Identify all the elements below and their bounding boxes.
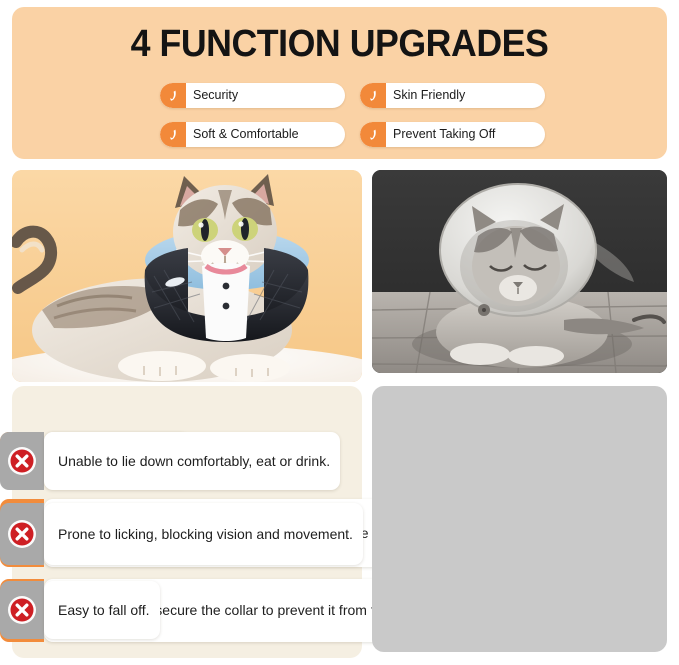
feature-badge-label: Prevent Taking Off xyxy=(386,122,545,147)
feature-badge-label: Security xyxy=(186,83,345,108)
feature-badge-security: Security xyxy=(160,83,345,108)
con-list-item: Unable to lie down comfortably, eat or d… xyxy=(0,432,340,490)
feature-badge-soft-comfortable: Soft & Comfortable xyxy=(160,122,345,147)
cross-circle-icon xyxy=(7,446,37,476)
swoosh-icon xyxy=(360,83,386,108)
con-row-card: Easy to fall off. xyxy=(44,581,160,639)
product-photo-soft-collar xyxy=(12,170,362,382)
con-row-text: Prone to licking, blocking vision and mo… xyxy=(44,525,363,544)
cross-circle-icon xyxy=(7,519,37,549)
page-title: 4 FUNCTION UPGRADES xyxy=(32,22,648,66)
con-list-item: Prone to licking, blocking vision and mo… xyxy=(0,503,363,565)
con-row-text: Easy to fall off. xyxy=(44,601,160,619)
con-row-card: Prone to licking, blocking vision and mo… xyxy=(44,503,363,565)
con-row-tab xyxy=(0,503,44,565)
cross-circle-icon xyxy=(7,595,37,625)
comparison-photo-plastic-cone xyxy=(372,170,667,373)
feature-badge-label: Soft & Comfortable xyxy=(186,122,345,147)
con-row-tab xyxy=(0,581,44,639)
feature-badge-skin-friendly: Skin Friendly xyxy=(360,83,545,108)
feature-badge-label: Skin Friendly xyxy=(386,83,545,108)
feature-badge-prevent-taking-off: Prevent Taking Off xyxy=(360,122,545,147)
con-list-item: Easy to fall off. xyxy=(0,581,160,639)
cons-panel xyxy=(372,386,667,652)
con-row-card: Unable to lie down comfortably, eat or d… xyxy=(44,432,340,490)
swoosh-icon xyxy=(160,83,186,108)
header-panel: 4 FUNCTION UPGRADES Security Skin Friend… xyxy=(12,7,667,159)
feature-badge-list: Security Skin Friendly Soft & Comfortabl… xyxy=(160,83,560,161)
con-row-tab xyxy=(0,432,44,490)
con-row-text: Unable to lie down comfortably, eat or d… xyxy=(44,452,340,471)
swoosh-icon xyxy=(160,122,186,147)
swoosh-icon xyxy=(360,122,386,147)
